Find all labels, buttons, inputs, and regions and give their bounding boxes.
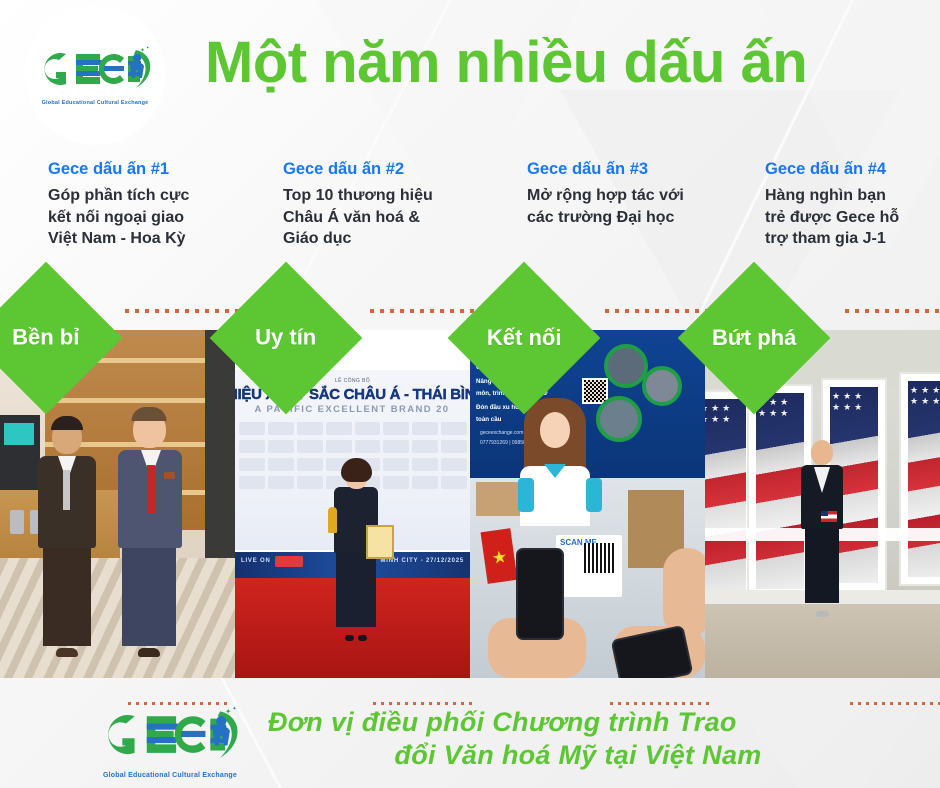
svg-text:✦: ✦ <box>225 707 231 716</box>
coffee-machine <box>0 415 40 490</box>
person-left-tie <box>63 470 70 510</box>
footer-gece-logo: ✦ ✦ Global Educational Cultural Exchange <box>95 704 245 779</box>
dotted-divider-4 <box>845 309 940 313</box>
dotted-divider-1 <box>125 309 245 313</box>
person-shoe <box>816 611 829 617</box>
flag-panel-4: ★★★★★★ <box>901 374 940 584</box>
sponsor-logo <box>268 422 294 435</box>
person-left-trousers <box>43 548 91 646</box>
milestone-2-line-1: Top 10 thương hiệu <box>283 185 498 207</box>
sponsor-logo <box>355 422 381 435</box>
sponsor-logo <box>412 458 438 471</box>
awardee-hair <box>341 458 372 482</box>
person-blazer <box>801 465 843 529</box>
sponsor-logo <box>383 458 409 471</box>
banner-photo-circle-2 <box>642 366 682 406</box>
scan-me-poster: SCAN ME <box>556 535 622 597</box>
flag-stars: ★★★★★★ <box>908 381 940 446</box>
photo-strip: LỄ CÔNG BỐ HIỆU XUẤT SẮC CHÂU Á - THÁI B… <box>0 330 940 678</box>
pocket-square <box>164 472 175 479</box>
milestone-3-heading: Gece dấu ấn #3 <box>527 160 742 179</box>
sponsor-logo <box>383 422 409 435</box>
sponsor-logo <box>441 458 467 471</box>
trophy <box>328 507 337 533</box>
person-right <box>118 411 180 662</box>
person-right-suit <box>118 450 182 548</box>
sponsor-logo <box>297 476 323 489</box>
milestone-4-line-1: Hàng nghìn bạn <box>765 185 940 207</box>
milestone-3-line-2: các trường Đại học <box>527 207 742 229</box>
header-logo-badge: ✦ ✦ Global Educational Cultural Exchange <box>25 5 165 145</box>
person-right-hair <box>132 407 167 421</box>
milestone-3-body: Mở rộng hợp tác với các trường Đại học <box>527 185 742 228</box>
poster-footer: ✦ ✦ Global Educational Cultural Exchange… <box>0 678 940 788</box>
awardee <box>334 463 378 646</box>
sponsor-logo <box>355 440 381 453</box>
booth-staff-sleeve <box>518 478 534 512</box>
svg-text:✦: ✦ <box>232 706 236 712</box>
sponsor-logo <box>268 440 294 453</box>
sponsor-logo <box>412 476 438 489</box>
sponsor-logo <box>412 422 438 435</box>
person-right-tie <box>147 465 155 513</box>
milestone-1-body: Góp phần tích cực kết nối ngoại giao Việ… <box>48 185 263 250</box>
milestone-4-line-3: trợ tham gia J-1 <box>765 228 940 250</box>
sponsor-logo <box>383 440 409 453</box>
infographic-poster: ✦ ✦ Global Educational Cultural Exchange… <box>0 0 940 788</box>
awardee-head <box>345 463 368 489</box>
sponsor-logo <box>268 476 294 489</box>
sponsor-logo <box>383 476 409 489</box>
badge-4-label: Bứt phá <box>712 325 796 351</box>
person-head <box>811 440 833 465</box>
vietnam-flag-star: ★ <box>491 547 509 569</box>
footer-dotted-divider-3 <box>610 702 710 705</box>
metal-jar <box>10 510 24 534</box>
poster-qr-code <box>584 543 614 573</box>
milestone-4-body: Hàng nghìn bạn trẻ được Gece hỗ trợ tham… <box>765 185 940 250</box>
footer-logo-tagline: Global Educational Cultural Exchange <box>103 772 237 779</box>
sponsor-logo <box>239 422 265 435</box>
sponsor-logo <box>441 440 467 453</box>
handheld-us-flag <box>821 511 837 522</box>
svg-text:✦: ✦ <box>140 47 145 54</box>
sponsor-logo <box>239 440 265 453</box>
booth-staff-sleeve <box>586 478 602 512</box>
backdrop-subhead: A PACIFIC EXCELLENT BRAND 20 <box>235 404 470 415</box>
us-flag-artwork: ★★★★★★ <box>756 393 804 589</box>
live-on-label: LIVE ON <box>241 558 271 564</box>
footer-tagline-line-2: đổi Văn hoá Mỹ tại Việt Nam <box>268 739 888 772</box>
milestone-1-line-2: kết nối ngoại giao <box>48 207 263 229</box>
sponsor-logo <box>412 440 438 453</box>
footer-tagline: Đơn vị điều phối Chương trình Trao đổi V… <box>268 706 888 772</box>
person-left-suit <box>38 456 96 548</box>
milestone-1-line-3: Việt Nam - Hoa Kỳ <box>48 228 263 250</box>
us-flag-artwork: ★★★★★★ <box>705 399 746 595</box>
sponsor-logo <box>268 458 294 471</box>
certificate-frame <box>366 525 394 559</box>
milestone-2-line-2: Châu Á văn hoá & <box>283 207 498 229</box>
machine-screen <box>4 423 34 445</box>
banner-photo-circle-3 <box>596 396 642 442</box>
milestone-4: Gece dấu ấn #4 Hàng nghìn bạn trẻ được G… <box>765 160 940 250</box>
milestone-1: Gece dấu ấn #1 Góp phần tích cực kết nối… <box>48 160 263 250</box>
footer-tagline-line-1: Đơn vị điều phối Chương trình Trao <box>268 706 888 739</box>
gece-logo-tagline: Global Educational Cultural Exchange <box>42 100 149 106</box>
person-left-shoe <box>56 648 78 657</box>
milestone-3-line-1: Mở rộng hợp tác với <box>527 185 742 207</box>
gece-logo: ✦ ✦ Global Educational Cultural Exchange <box>36 44 154 106</box>
milestone-3: Gece dấu ấn #3 Mở rộng hợp tác với các t… <box>527 160 742 228</box>
person-left <box>38 420 96 662</box>
sponsor-logo <box>326 422 352 435</box>
page-title: Một năm nhiều dấu ấn <box>205 34 807 92</box>
milestone-1-line-1: Góp phần tích cực <box>48 185 263 207</box>
sponsor-logo <box>239 476 265 489</box>
flag-stars: ★★★★★★ <box>705 399 746 464</box>
smartphone-upright <box>516 548 564 640</box>
milestone-4-heading: Gece dấu ấn #4 <box>765 160 940 179</box>
sponsor-logo <box>326 440 352 453</box>
visitor-arm-right <box>663 548 705 638</box>
booth-staff-face <box>540 412 570 448</box>
sponsor-logo <box>297 458 323 471</box>
person-left-head <box>52 420 82 454</box>
milestones-row: Gece dấu ấn #1 Góp phần tích cực kết nối… <box>0 152 940 272</box>
milestone-1-heading: Gece dấu ấn #1 <box>48 160 263 179</box>
awardee-shoe <box>358 635 367 641</box>
person-trousers <box>805 529 839 603</box>
tv-channel-logo <box>275 556 303 567</box>
footer-dotted-divider-4 <box>850 702 940 705</box>
badge-1-label: Bền bỉ <box>12 325 79 351</box>
person-right-head <box>133 411 166 448</box>
sponsor-logo <box>441 476 467 489</box>
person-blouse <box>814 467 830 493</box>
booth-bullet-6: toàn cầu <box>476 416 501 423</box>
poster-header: ✦ ✦ Global Educational Cultural Exchange… <box>0 0 940 145</box>
badge-3-label: Kết nối <box>487 325 562 351</box>
milestone-2-line-3: Giáo dục <box>283 228 498 250</box>
milestone-4-line-2: trẻ được Gece hỗ <box>765 207 940 229</box>
person-right-shoe <box>138 648 160 657</box>
person-right-trousers <box>122 548 176 646</box>
awardee-skirt <box>336 553 376 627</box>
us-flag-artwork: ★★★★★★ <box>908 381 940 577</box>
milestone-2-body: Top 10 thương hiệu Châu Á văn hoá & Giáo… <box>283 185 498 250</box>
booth-contact-website: geceexchange.com <box>480 430 523 436</box>
booth-contact-phone: 0777931269 | 098500 <box>480 440 529 446</box>
sponsor-logo <box>441 422 467 435</box>
flag-panel-1: ★★★★★★ <box>705 392 753 602</box>
gece-logo-mark: ✦ ✦ <box>36 44 154 98</box>
door-frame <box>205 330 235 580</box>
milestone-2: Gece dấu ấn #2 Top 10 thương hiệu Châu Á… <box>283 160 498 250</box>
booth-staff <box>532 400 578 530</box>
milestone-2-heading: Gece dấu ấn #2 <box>283 160 498 179</box>
person-in-suit <box>801 440 843 622</box>
badge-2-label: Uy tín <box>255 325 316 351</box>
sponsor-logo <box>297 440 323 453</box>
footer-dotted-divider-2 <box>373 702 473 705</box>
sponsor-logo <box>297 422 323 435</box>
awardee-shoe <box>345 635 354 641</box>
sponsor-logo <box>239 458 265 471</box>
gece-logo-mark: ✦ ✦ <box>95 704 245 770</box>
svg-text:✦: ✦ <box>146 45 150 50</box>
